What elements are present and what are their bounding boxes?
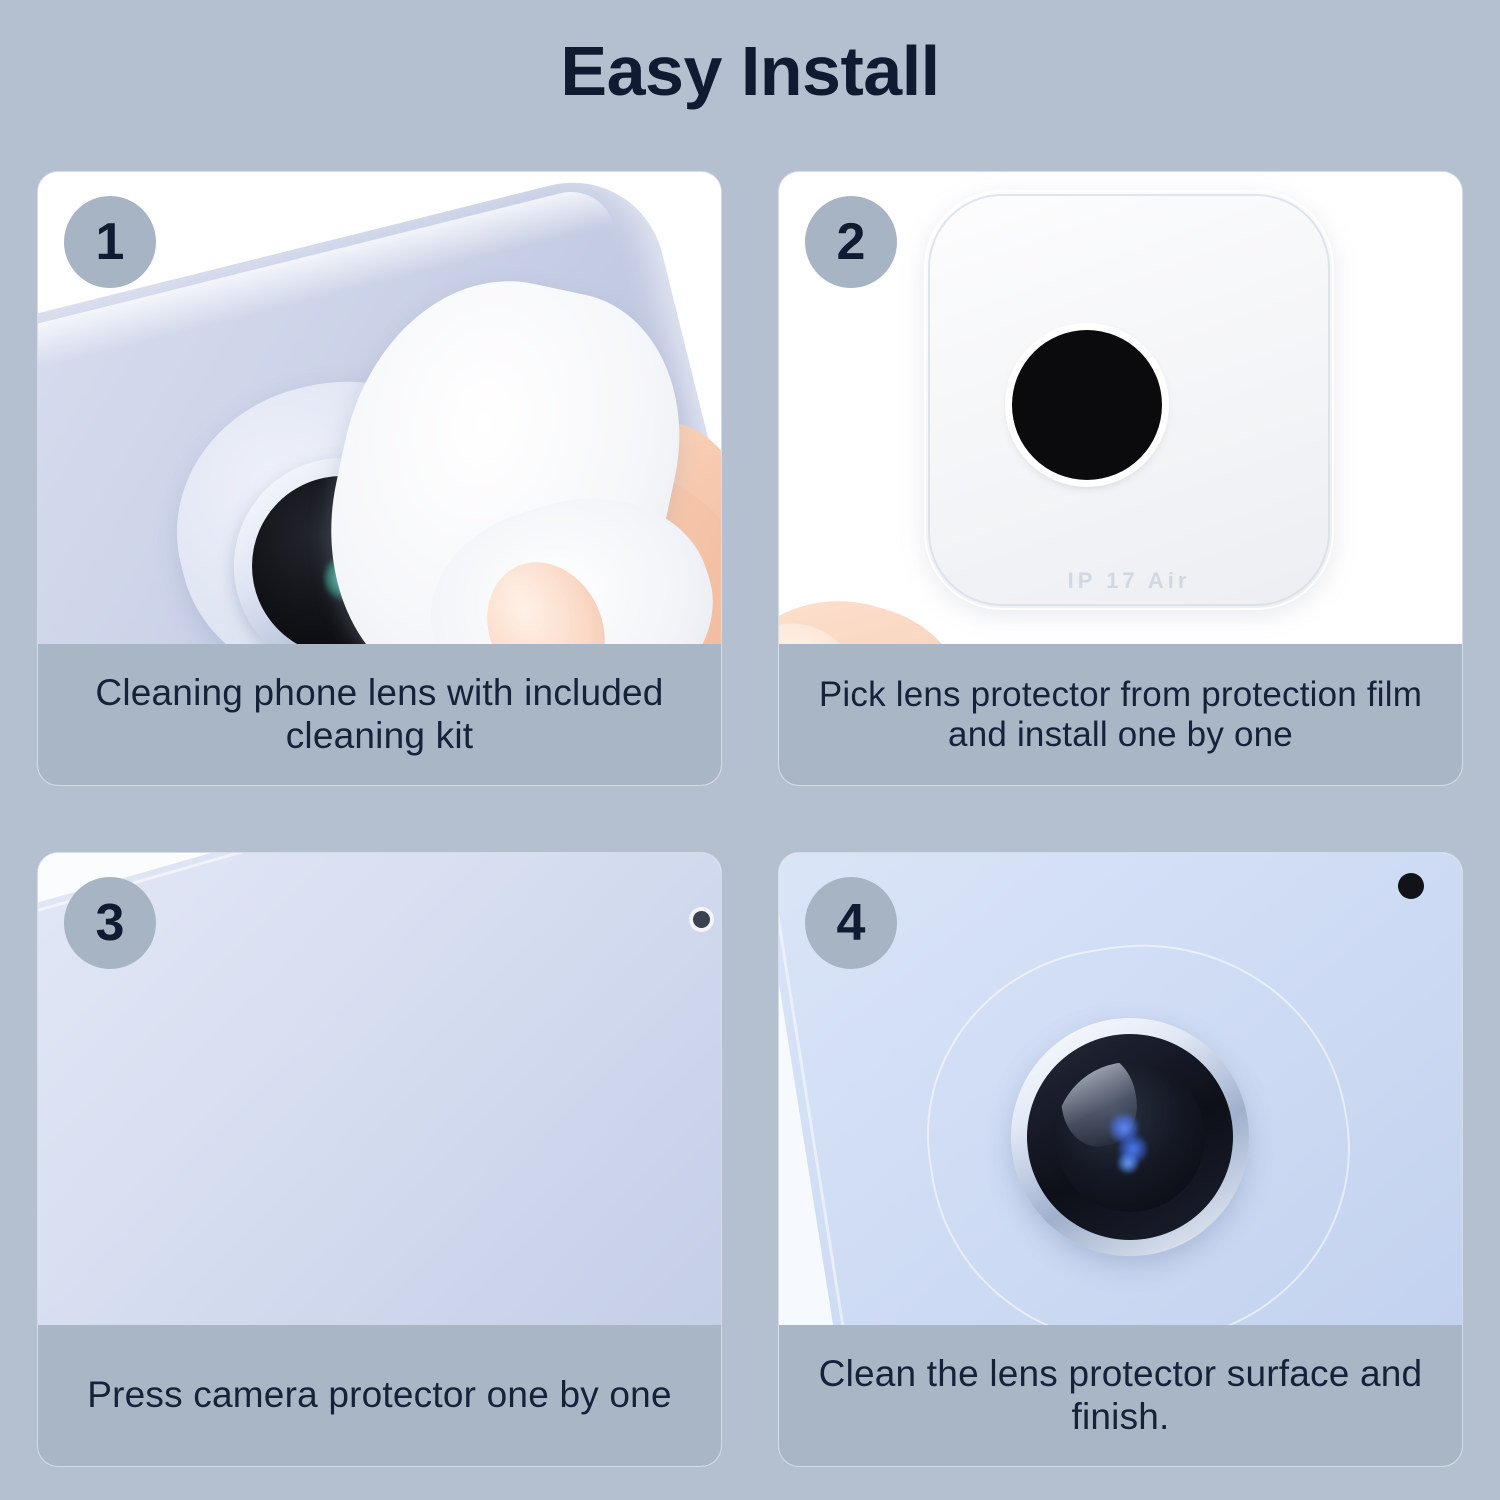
film-label: IP 17 Air (924, 568, 1334, 594)
step-caption-4: Clean the lens protector surface and fin… (779, 1325, 1462, 1466)
caption-text: Clean the lens protector surface and fin… (797, 1353, 1444, 1439)
step-badge-2: 2 (805, 196, 897, 288)
step-badge-4: 4 (805, 877, 897, 969)
step-badge-1: 1 (64, 196, 156, 288)
step-card-2: IP 17 Air 2 Pick lens protector from pro… (779, 172, 1462, 785)
step-caption-1: Cleaning phone lens with included cleani… (38, 644, 721, 785)
step-caption-3: Press camera protector one by one (38, 1325, 721, 1466)
caption-text: Press camera protector one by one (87, 1374, 672, 1417)
lens-flare-blue-3 (1117, 1152, 1139, 1174)
step-badge-3: 3 (64, 877, 156, 969)
page-title: Easy Install (0, 36, 1500, 106)
film-cutout-hole (1012, 330, 1162, 480)
caption-text: Pick lens protector from protection film… (797, 675, 1444, 755)
step-card-4: 4 Clean the lens protector surface and f… (779, 853, 1462, 1466)
step-number: 2 (837, 212, 866, 272)
step-caption-2: Pick lens protector from protection film… (779, 644, 1462, 785)
protector-bezel (1027, 1034, 1233, 1240)
microphone-dot (693, 911, 710, 928)
protector-glass (1055, 1062, 1205, 1212)
flash-dot (1398, 873, 1424, 899)
step-number: 3 (96, 893, 125, 953)
installed-lens-protector (1011, 1018, 1249, 1256)
step-number: 1 (96, 212, 125, 272)
steps-grid: 1 Cleaning phone lens with included clea… (38, 172, 1462, 1466)
caption-text: Cleaning phone lens with included cleani… (56, 672, 703, 758)
step-card-3: 3 Press camera protector one by one (38, 853, 721, 1466)
step-card-1: 1 Cleaning phone lens with included clea… (38, 172, 721, 785)
step-number: 4 (837, 893, 866, 953)
protection-film: IP 17 Air (924, 190, 1334, 610)
